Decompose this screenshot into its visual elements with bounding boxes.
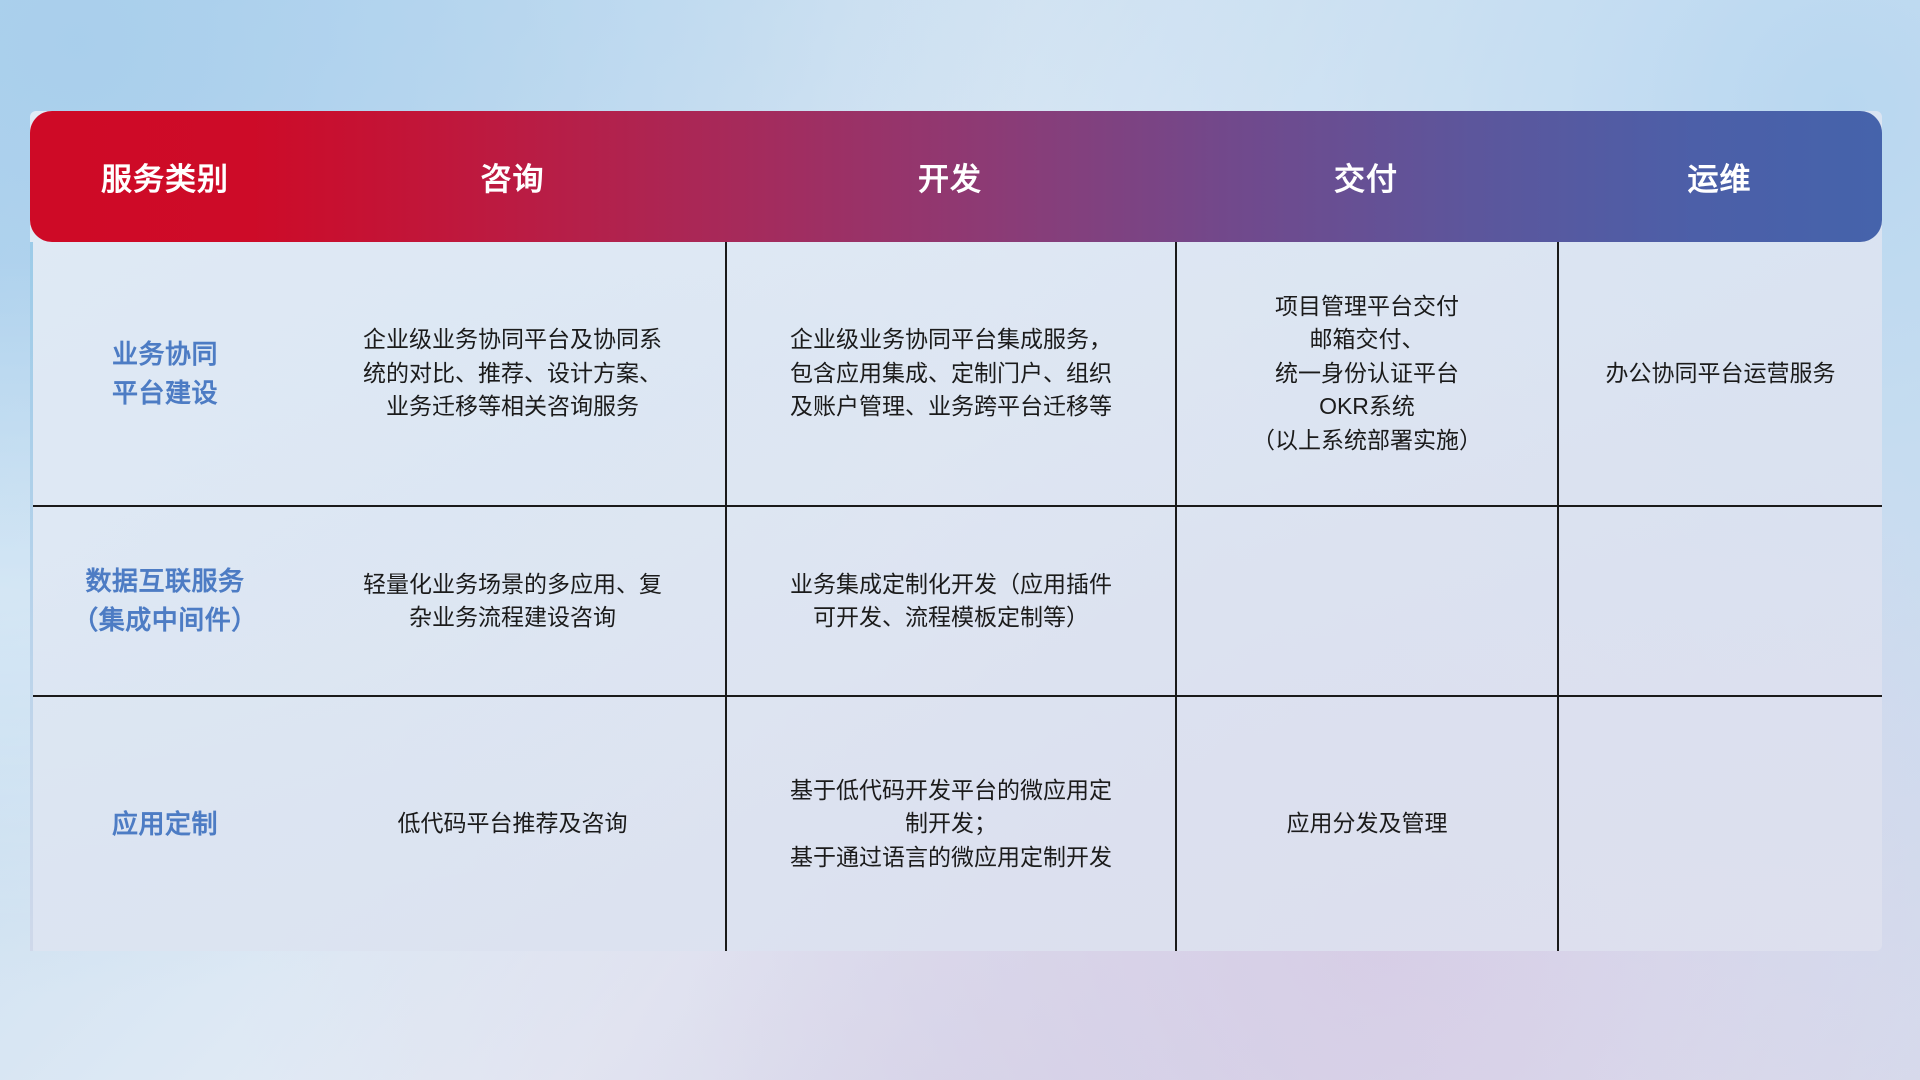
table-row: 业务协同 平台建设 企业级业务协同平台及协同系 统的对比、推荐、设计方案、 业务… xyxy=(30,242,1882,507)
cell-development-row1: 企业级业务协同平台集成服务， 包含应用集成、定制门户、组织 及账户管理、业务跨平… xyxy=(725,242,1175,505)
column-header-delivery: 交付 xyxy=(1175,154,1557,199)
column-header-consulting: 咨询 xyxy=(300,154,725,199)
table-body: 业务协同 平台建设 企业级业务协同平台及协同系 统的对比、推荐、设计方案、 业务… xyxy=(30,242,1882,951)
table-row: 应用定制 低代码平台推荐及咨询 基于低代码开发平台的微应用定 制开发； 基于通过… xyxy=(30,697,1882,951)
cell-consulting-row2: 轻量化业务场景的多应用、复 杂业务流程建设咨询 xyxy=(300,507,725,695)
cell-development-row2: 业务集成定制化开发（应用插件 可开发、流程模板定制等） xyxy=(725,507,1175,695)
row-label-data-interconnect-service: 数据互联服务 （集成中间件） xyxy=(30,507,300,695)
row-label-application-customization: 应用定制 xyxy=(30,697,300,951)
cell-operations-row3 xyxy=(1557,697,1882,951)
cell-development-row3: 基于低代码开发平台的微应用定 制开发； 基于通过语言的微应用定制开发 xyxy=(725,697,1175,951)
cell-consulting-row3: 低代码平台推荐及咨询 xyxy=(300,697,725,951)
left-edge-rail xyxy=(30,242,33,951)
cell-consulting-row1: 企业级业务协同平台及协同系 统的对比、推荐、设计方案、 业务迁移等相关咨询服务 xyxy=(300,242,725,505)
table-row: 数据互联服务 （集成中间件） 轻量化业务场景的多应用、复 杂业务流程建设咨询 业… xyxy=(30,507,1882,697)
cell-delivery-row1: 项目管理平台交付 邮箱交付、 统一身份认证平台 OKR系统 （以上系统部署实施） xyxy=(1175,242,1557,505)
column-header-development: 开发 xyxy=(725,154,1175,199)
table-header-row: 服务类别 咨询 开发 交付 运维 xyxy=(30,111,1882,242)
column-header-service-category: 服务类别 xyxy=(30,154,300,199)
column-header-operations: 运维 xyxy=(1557,154,1882,199)
cell-delivery-row3: 应用分发及管理 xyxy=(1175,697,1557,951)
cell-delivery-row2 xyxy=(1175,507,1557,695)
service-matrix-card: 服务类别 咨询 开发 交付 运维 业务协同 平台建设 企业级业务协同平台及协同系… xyxy=(30,111,1882,951)
row-label-business-collaboration-platform: 业务协同 平台建设 xyxy=(30,242,300,505)
cell-operations-row2 xyxy=(1557,507,1882,695)
cell-operations-row1: 办公协同平台运营服务 xyxy=(1557,242,1882,505)
